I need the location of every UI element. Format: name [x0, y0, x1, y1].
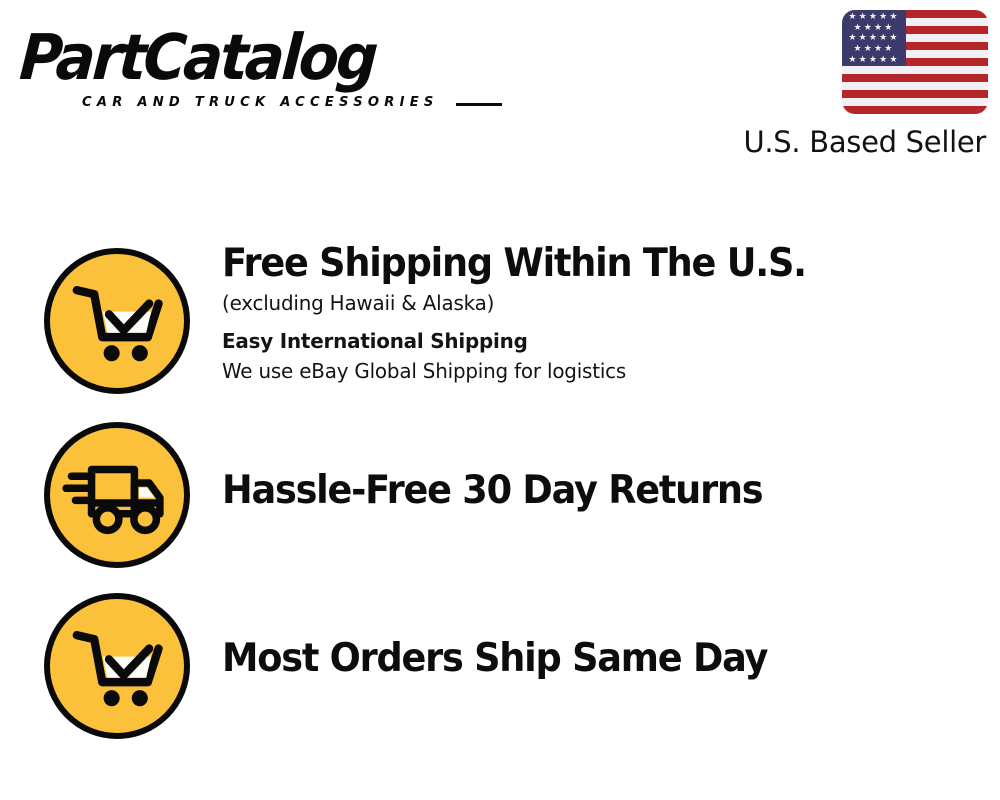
- spacer: [222, 318, 980, 326]
- feature-headline: Free Shipping Within The U.S.: [222, 240, 935, 288]
- feature-list: Free Shipping Within The U.S. (excluding…: [0, 0, 1000, 800]
- feature-headline: Hassle-Free 30 Day Returns: [222, 467, 935, 515]
- feature-text-returns: Hassle-Free 30 Day Returns: [222, 467, 980, 515]
- shopping-cart-check-icon: [44, 593, 190, 739]
- feature-row-returns: Hassle-Free 30 Day Returns: [0, 415, 1000, 575]
- feature-headline: Most Orders Ship Same Day: [222, 635, 935, 683]
- feature-subline-ebay-global: We use eBay Global Shipping for logistic…: [222, 356, 957, 386]
- delivery-truck-icon: [44, 422, 190, 568]
- feature-row-free-shipping: Free Shipping Within The U.S. (excluding…: [0, 240, 1000, 410]
- feature-subline-international-heading: Easy International Shipping: [222, 326, 957, 356]
- feature-row-same-day-ship: Most Orders Ship Same Day: [0, 585, 1000, 745]
- feature-text-same-day-ship: Most Orders Ship Same Day: [222, 635, 980, 683]
- shopping-cart-check-icon: [44, 248, 190, 394]
- feature-subline-excluding: (excluding Hawaii & Alaska): [222, 288, 957, 318]
- feature-text-free-shipping: Free Shipping Within The U.S. (excluding…: [222, 240, 980, 386]
